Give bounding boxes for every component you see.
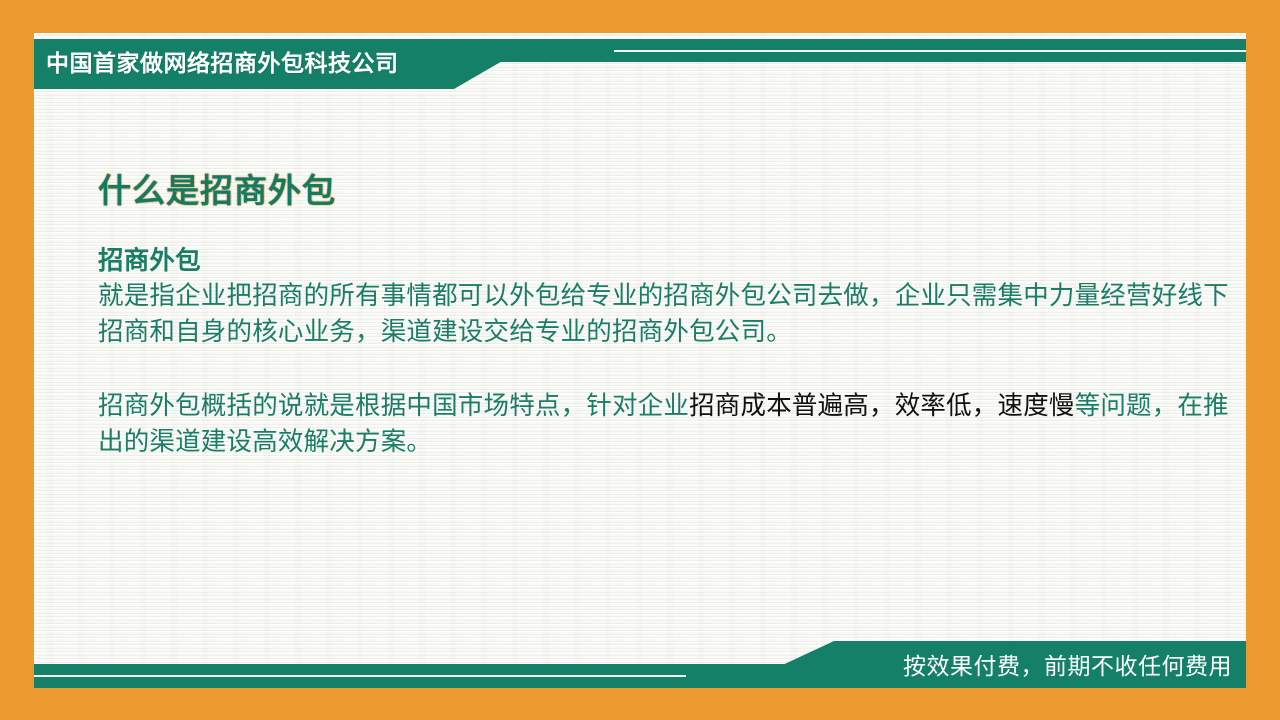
header-band: 中国首家做网络招商外包科技公司 [34, 39, 1246, 89]
header-title: 中国首家做网络招商外包科技公司 [46, 45, 506, 81]
footer-band: 按效果付费，前期不收任何费用 [34, 641, 1246, 688]
paragraph-spacer [98, 350, 1233, 388]
page-title: 什么是招商外包 [98, 170, 1233, 212]
slide-content: 什么是招商外包 招商外包 就是指企业把招商的所有事情都可以外包给专业的招商外包公… [98, 170, 1233, 460]
footer-tagline: 按效果付费，前期不收任何费用 [903, 650, 1232, 682]
presentation-slide: 中国首家做网络招商外包科技公司 什么是招商外包 招商外包 就是指企业把招商的所有… [0, 0, 1280, 720]
body-paragraph-2: 招商外包概括的说就是根据中国市场特点，针对企业招商成本普遍高，效率低，速度慢等问… [98, 388, 1233, 460]
body-subheading: 招商外包 [98, 244, 1233, 278]
body-paragraph-1: 就是指企业把招商的所有事情都可以外包给专业的招商外包公司去做，企业只需集中力量经… [98, 278, 1233, 350]
paragraph-2-lead-text: 招商外包概括的说就是根据中国市场特点，针对企业 [98, 392, 689, 420]
footer-hairline-divider [34, 675, 724, 677]
paragraph-2-highlight-text: 招商成本普遍高，效率低，速度慢 [689, 392, 1075, 420]
